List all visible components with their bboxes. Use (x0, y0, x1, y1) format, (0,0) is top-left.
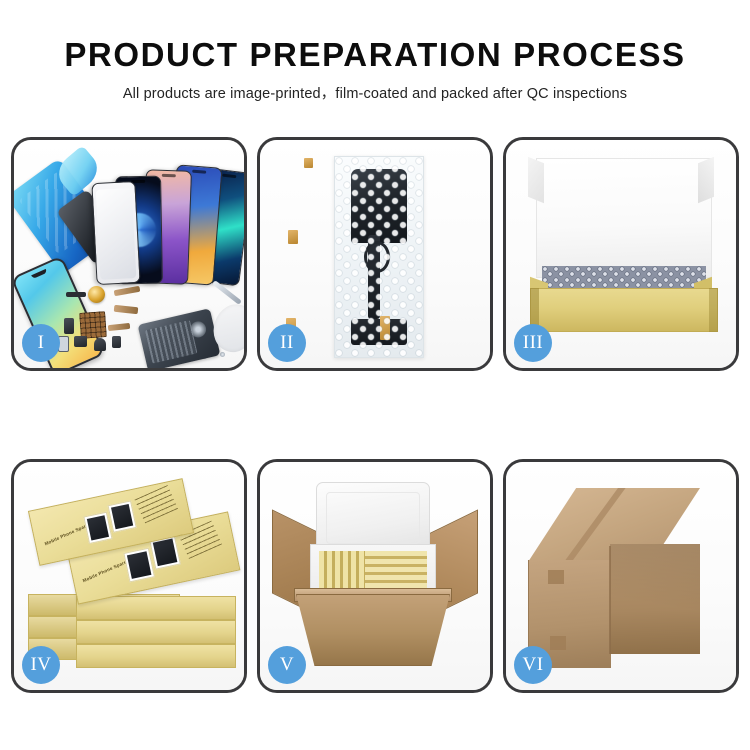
step-badge-4: IV (22, 646, 60, 684)
box-window (123, 548, 155, 583)
phone-chassis-part (138, 308, 221, 371)
process-step-4: Mobile Phone Spare Parts Mobile Phone Sp… (11, 459, 247, 693)
phone-lineup (86, 154, 246, 284)
phone-notch (162, 174, 176, 177)
small-module-part (112, 336, 121, 348)
screw-part (220, 352, 225, 357)
flex-cable-part (108, 323, 131, 331)
step-badge-2: II (268, 324, 306, 362)
tape-strip (288, 230, 298, 244)
header: PRODUCT PREPARATION PROCESS All products… (0, 0, 750, 103)
box-window (107, 500, 136, 532)
speaker-coil-part (88, 286, 105, 303)
box-lid-white (536, 158, 712, 278)
process-step-3: III (503, 137, 739, 371)
box-window-product (87, 515, 109, 540)
process-step-2: II (257, 137, 493, 371)
glass-protector-panel (91, 181, 140, 285)
carton-tape-upper (548, 570, 564, 584)
step-badge-6: VI (514, 646, 552, 684)
carton-tape-lower (550, 636, 566, 650)
process-step-1: I (11, 137, 247, 371)
phone-notch (192, 170, 206, 174)
small-module-part (64, 318, 74, 334)
process-step-6: VI (503, 459, 739, 693)
connector-strip-part (66, 292, 86, 297)
camera-module-part (94, 338, 106, 351)
box-window-product (127, 551, 152, 579)
small-module-part (74, 336, 87, 347)
step-badge-1: I (22, 324, 60, 362)
phone-notch (222, 174, 236, 179)
flex-cable-part (114, 305, 139, 314)
retail-box-stack: Mobile Phone Spare Parts Mobile Phone Sp… (24, 476, 238, 680)
box-window (83, 512, 112, 544)
page-title: PRODUCT PREPARATION PROCESS (0, 38, 750, 73)
process-step-5: V (257, 459, 493, 693)
shipping-carton-open (296, 594, 450, 666)
step-badge-3: III (514, 324, 552, 362)
box-window-product (111, 504, 133, 529)
box-lid-left-fold (528, 157, 544, 203)
box-spec-lines (135, 485, 178, 523)
page-subtitle: All products are image-printed，film-coat… (0, 82, 750, 103)
carton-right-face (610, 544, 700, 654)
process-step-grid: I II (11, 137, 739, 693)
step-badge-5: V (268, 646, 306, 684)
box-window-product (153, 539, 178, 567)
tape-strip (304, 158, 313, 168)
yellow-box-front (530, 288, 718, 332)
stacked-box (76, 644, 236, 668)
flex-cable-part (114, 286, 141, 296)
box-lid-right-fold (698, 157, 714, 203)
stacked-box (76, 620, 236, 644)
bubble-texture (335, 157, 423, 357)
bubble-wrap-bag (334, 156, 424, 358)
carton-vertical-edge (609, 546, 611, 654)
chip-grid-part (79, 311, 107, 339)
